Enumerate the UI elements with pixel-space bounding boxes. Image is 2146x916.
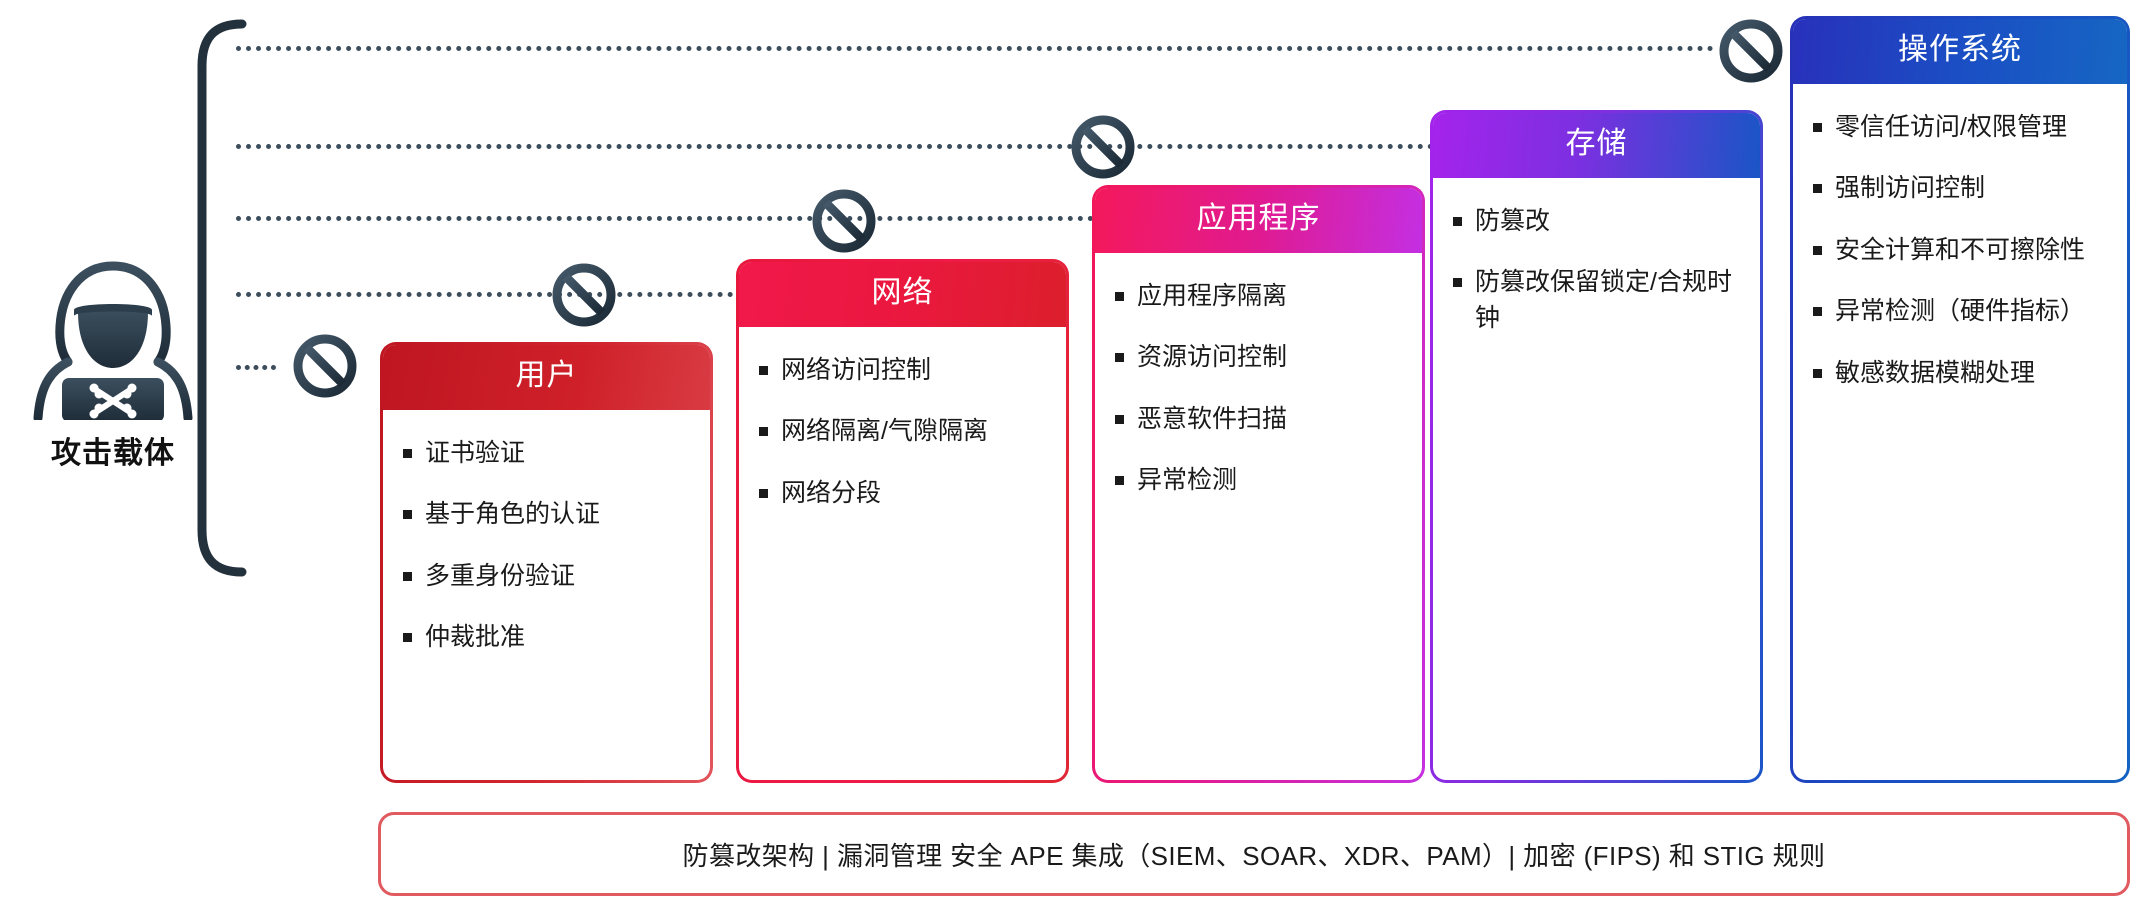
bullet-icon xyxy=(1813,369,1822,378)
prohibition-icon-app xyxy=(811,188,877,254)
layer-items-network: 网络访问控制 网络隔离/气隙隔离 网络分段 xyxy=(739,327,1066,781)
layer-card-storage[interactable]: 存储 防篡改 防篡改保留锁定/合规时钟 xyxy=(1430,110,1763,783)
list-item: 应用程序隔离 xyxy=(1115,279,1406,315)
attack-vector-label: 攻击载体 xyxy=(18,428,208,472)
list-item: 敏感数据模糊处理 xyxy=(1813,356,2111,392)
attack-vector-group: 攻击载体 xyxy=(18,250,208,472)
prohibition-icon-storage xyxy=(1070,114,1136,180)
prohibition-icon-user xyxy=(292,333,358,399)
bullet-icon xyxy=(403,510,412,519)
bullet-icon xyxy=(403,572,412,581)
layer-card-network[interactable]: 网络 网络访问控制 网络隔离/气隙隔离 网络分段 xyxy=(736,259,1069,783)
list-item: 零信任访问/权限管理 xyxy=(1813,110,2111,146)
list-item: 证书验证 xyxy=(403,436,694,472)
list-item: 异常检测（硬件指标） xyxy=(1813,294,2111,330)
list-item: 仲裁批准 xyxy=(403,620,694,656)
layer-card-user[interactable]: 用户 证书验证 基于角色的认证 多重身份验证 仲裁批准 xyxy=(380,342,713,783)
layer-title-application: 应用程序 xyxy=(1095,188,1422,253)
list-item: 网络隔离/气隙隔离 xyxy=(759,414,1050,450)
attack-line-user xyxy=(236,365,276,370)
bullet-icon xyxy=(759,489,768,498)
bullet-icon xyxy=(759,366,768,375)
attack-line-storage xyxy=(236,144,1454,149)
bullet-icon xyxy=(403,449,412,458)
bullet-icon xyxy=(1813,123,1822,132)
layer-items-application: 应用程序隔离 资源访问控制 恶意软件扫描 异常检测 xyxy=(1095,253,1422,781)
bullet-icon xyxy=(1813,246,1822,255)
prohibition-icon-os xyxy=(1718,18,1784,84)
bullet-icon xyxy=(1115,415,1124,424)
list-item: 多重身份验证 xyxy=(403,559,694,595)
bullet-icon xyxy=(1115,292,1124,301)
layer-items-user: 证书验证 基于角色的认证 多重身份验证 仲裁批准 xyxy=(383,410,710,781)
layer-items-storage: 防篡改 防篡改保留锁定/合规时钟 xyxy=(1433,178,1760,781)
hacker-icon xyxy=(18,250,208,420)
bullet-icon xyxy=(1813,307,1822,316)
layer-card-operating-system[interactable]: 操作系统 零信任访问/权限管理 强制访问控制 安全计算和不可擦除性 异常检测（硬… xyxy=(1790,16,2130,783)
attack-line-os xyxy=(236,46,1714,51)
prohibition-icon-network xyxy=(551,262,617,328)
foundation-bar: 防篡改架构 | 漏洞管理 安全 APE 集成（SIEM、SOAR、XDR、PAM… xyxy=(378,812,2130,896)
list-item: 强制访问控制 xyxy=(1813,171,2111,207)
layer-title-operating-system: 操作系统 xyxy=(1793,19,2127,84)
layer-card-application[interactable]: 应用程序 应用程序隔离 资源访问控制 恶意软件扫描 异常检测 xyxy=(1092,185,1425,783)
bullet-icon xyxy=(403,633,412,642)
list-item: 防篡改 xyxy=(1453,204,1744,240)
bullet-icon xyxy=(759,427,768,436)
bullet-icon xyxy=(1115,476,1124,485)
layer-items-operating-system: 零信任访问/权限管理 强制访问控制 安全计算和不可擦除性 异常检测（硬件指标） … xyxy=(1793,84,2127,781)
bullet-icon xyxy=(1453,278,1462,287)
list-item: 安全计算和不可擦除性 xyxy=(1813,233,2111,269)
list-item: 恶意软件扫描 xyxy=(1115,402,1406,438)
attack-line-app xyxy=(236,216,1194,221)
list-item: 网络分段 xyxy=(759,476,1050,512)
list-item: 资源访问控制 xyxy=(1115,340,1406,376)
bracket-shape xyxy=(190,18,250,578)
list-item: 基于角色的认证 xyxy=(403,497,694,533)
bullet-icon xyxy=(1813,184,1822,193)
layer-title-network: 网络 xyxy=(739,262,1066,327)
layer-title-storage: 存储 xyxy=(1433,113,1760,178)
diagram-canvas: 攻击载体 xyxy=(0,0,2146,916)
layer-title-user: 用户 xyxy=(383,345,710,410)
bullet-icon xyxy=(1453,217,1462,226)
foundation-bar-text: 防篡改架构 | 漏洞管理 安全 APE 集成（SIEM、SOAR、XDR、PAM… xyxy=(683,836,1826,873)
list-item: 异常检测 xyxy=(1115,463,1406,499)
bullet-icon xyxy=(1115,353,1124,362)
list-item: 网络访问控制 xyxy=(759,353,1050,389)
list-item: 防篡改保留锁定/合规时钟 xyxy=(1453,265,1744,336)
